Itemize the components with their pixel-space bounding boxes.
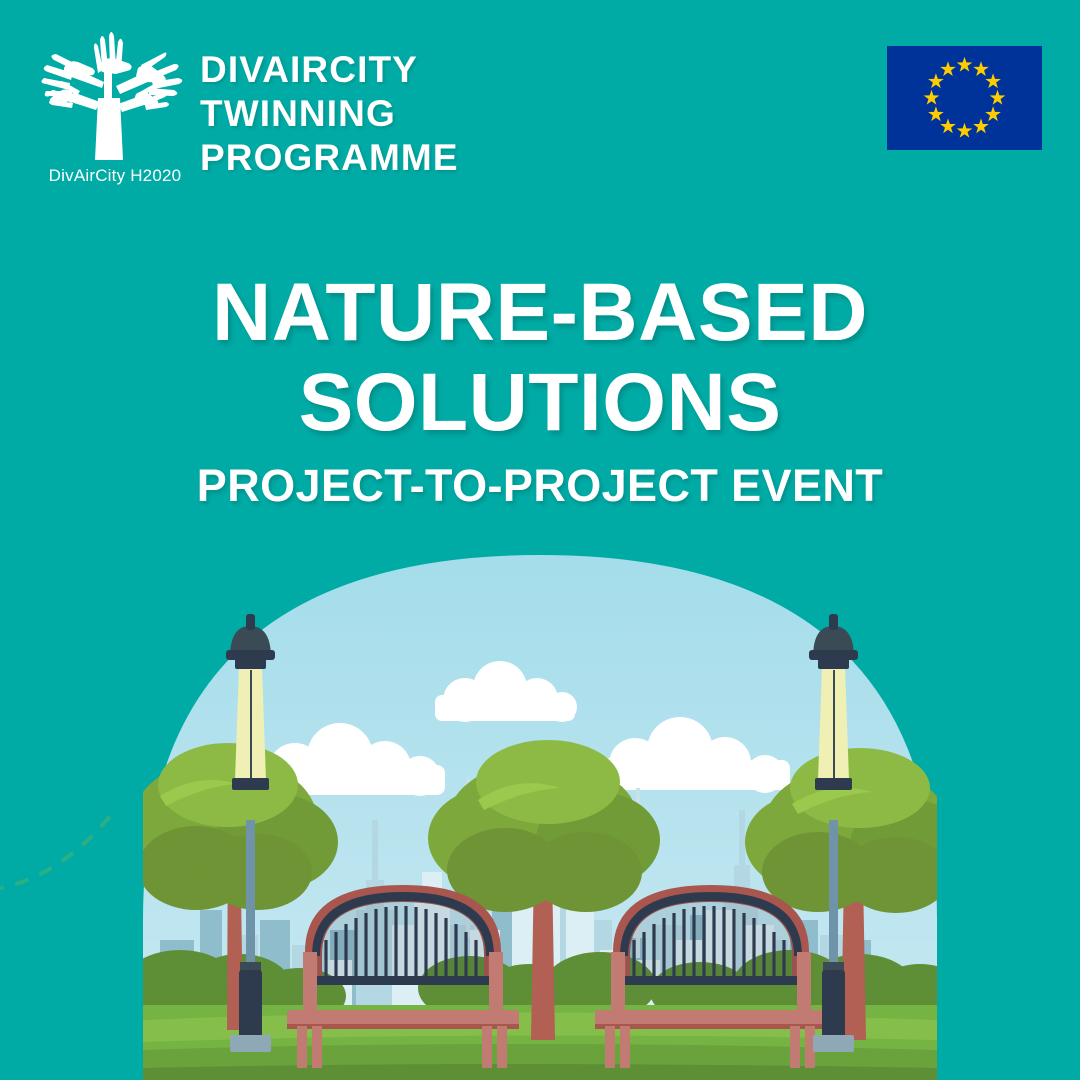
headline-subtitle: PROJECT-TO-PROJECT EVENT	[0, 460, 1080, 512]
headline-line-1: NATURE-BASED	[0, 268, 1080, 358]
headline-line-2: SOLUTIONS	[0, 358, 1080, 448]
city-park-illustration	[0, 520, 1080, 1080]
hand-tree-logo-icon	[34, 28, 184, 163]
brand-logo: DivAirCity H2020	[30, 28, 190, 193]
park-scene-svg	[0, 520, 1080, 1080]
brand-line-1: DIVAIRCITY	[200, 48, 459, 92]
poster-canvas: DivAirCity H2020 DIVAIRCITY TWINNING PRO…	[0, 0, 1080, 1080]
brand-title: DIVAIRCITY TWINNING PROGRAMME	[200, 48, 459, 180]
eu-flag-stars	[887, 46, 1042, 150]
header: DivAirCity H2020 DIVAIRCITY TWINNING PRO…	[0, 0, 1080, 210]
logo-caption: DivAirCity H2020	[30, 166, 200, 186]
brand-line-2: TWINNING	[200, 92, 459, 136]
brand-line-3: PROGRAMME	[200, 136, 459, 180]
eu-flag-icon	[887, 46, 1042, 150]
decorative-dashed-arc	[0, 810, 115, 890]
grass-shadow	[143, 1064, 937, 1080]
headline-block: NATURE-BASED SOLUTIONS PROJECT-TO-PROJEC…	[0, 268, 1080, 512]
